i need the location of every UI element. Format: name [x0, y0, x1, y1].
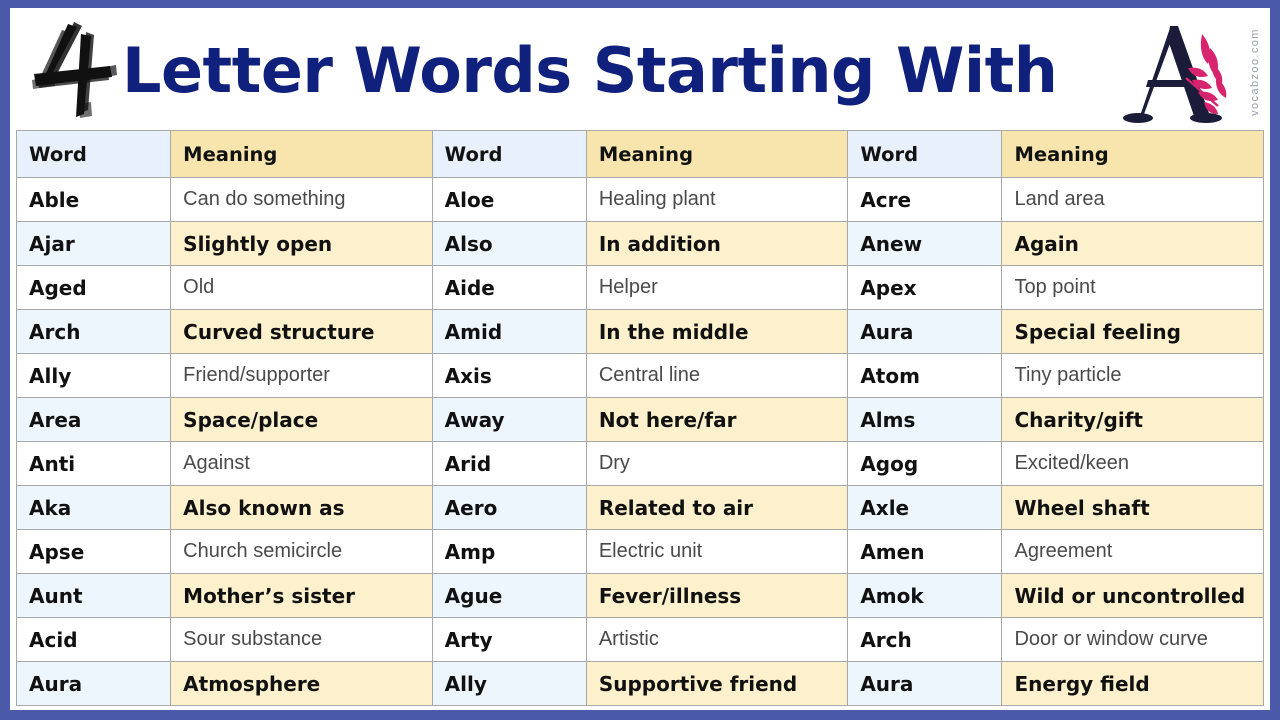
cell-word: Atom: [848, 354, 1002, 398]
cell-meaning: Supportive friend: [586, 662, 847, 706]
cell-meaning: Top point: [1002, 266, 1264, 310]
cell-meaning: Atmosphere: [171, 662, 432, 706]
cell-word: Aura: [17, 662, 171, 706]
cell-meaning: Central line: [586, 354, 847, 398]
cell-word: Amok: [848, 574, 1002, 618]
cell-word: Amen: [848, 530, 1002, 574]
cell-word: Aide: [432, 266, 586, 310]
table-row: AbleCan do somethingAloeHealing plantAcr…: [17, 178, 1264, 222]
cell-word: Arid: [432, 442, 586, 486]
cell-word: Anew: [848, 222, 1002, 266]
poster-frame: Letter Words Starting With: [0, 0, 1280, 720]
cell-word: Ajar: [17, 222, 171, 266]
cell-meaning: Old: [171, 266, 432, 310]
poster-header: Letter Words Starting With: [10, 8, 1270, 130]
cell-meaning: Against: [171, 442, 432, 486]
poster-sheet: Letter Words Starting With: [10, 8, 1270, 710]
table-header-row: Word Meaning Word Meaning Word Meaning: [17, 131, 1264, 178]
table-row: ArchCurved structureAmidIn the middleAur…: [17, 310, 1264, 354]
table-row: AuraAtmosphereAllySupportive friendAuraE…: [17, 662, 1264, 706]
cell-word: Arch: [17, 310, 171, 354]
cell-word: Acre: [848, 178, 1002, 222]
column-header-meaning-1: Meaning: [171, 131, 432, 178]
table-row: AllyFriend/supporterAxisCentral lineAtom…: [17, 354, 1264, 398]
table-row: AntiAgainstAridDryAgogExcited/keen: [17, 442, 1264, 486]
table-head: Word Meaning Word Meaning Word Meaning: [17, 131, 1264, 178]
table-row: AuntMother’s sisterAgueFever/illnessAmok…: [17, 574, 1264, 618]
cell-word: Aka: [17, 486, 171, 530]
cell-meaning: Sour substance: [171, 618, 432, 662]
cell-meaning: Mother’s sister: [171, 574, 432, 618]
table-row: AcidSour substanceArtyArtisticArchDoor o…: [17, 618, 1264, 662]
table-row: AjarSlightly openAlsoIn additionAnewAgai…: [17, 222, 1264, 266]
watermark-vocabzoo: vocabzoo.com: [1246, 22, 1264, 134]
cell-word: Amid: [432, 310, 586, 354]
column-header-meaning-3: Meaning: [1002, 131, 1264, 178]
cell-word: Arch: [848, 618, 1002, 662]
cell-word: Anti: [17, 442, 171, 486]
cell-meaning: Energy field: [1002, 662, 1264, 706]
cell-word: Agog: [848, 442, 1002, 486]
cell-meaning: Agreement: [1002, 530, 1264, 574]
cell-word: Amp: [432, 530, 586, 574]
cell-meaning: Also known as: [171, 486, 432, 530]
cell-word: Able: [17, 178, 171, 222]
cell-meaning: In the middle: [586, 310, 847, 354]
table-row: AgedOldAideHelperApexTop point: [17, 266, 1264, 310]
cell-meaning: Tiny particle: [1002, 354, 1264, 398]
cell-word: Aloe: [432, 178, 586, 222]
cell-word: Also: [432, 222, 586, 266]
cell-meaning: Not here/far: [586, 398, 847, 442]
page-title: Letter Words Starting With: [122, 40, 1057, 102]
cell-word: Axle: [848, 486, 1002, 530]
vocab-table: Word Meaning Word Meaning Word Meaning A…: [16, 130, 1264, 706]
cell-word: Apse: [17, 530, 171, 574]
cell-word: Aura: [848, 662, 1002, 706]
cell-meaning: Space/place: [171, 398, 432, 442]
cell-meaning: Excited/keen: [1002, 442, 1264, 486]
cell-meaning: In addition: [586, 222, 847, 266]
column-header-word-1: Word: [17, 131, 171, 178]
vocab-table-container: Word Meaning Word Meaning Word Meaning A…: [10, 130, 1270, 710]
cell-word: Axis: [432, 354, 586, 398]
cell-meaning: Artistic: [586, 618, 847, 662]
cell-meaning: Charity/gift: [1002, 398, 1264, 442]
cell-meaning: Helper: [586, 266, 847, 310]
cell-word: Area: [17, 398, 171, 442]
cell-word: Apex: [848, 266, 1002, 310]
cell-meaning: Dry: [586, 442, 847, 486]
cell-meaning: Healing plant: [586, 178, 847, 222]
cell-word: Away: [432, 398, 586, 442]
cell-word: Arty: [432, 618, 586, 662]
table-body: AbleCan do somethingAloeHealing plantAcr…: [17, 178, 1264, 706]
cell-meaning: Can do something: [171, 178, 432, 222]
cell-word: Ague: [432, 574, 586, 618]
cell-meaning: Again: [1002, 222, 1264, 266]
cell-meaning: Slightly open: [171, 222, 432, 266]
cell-word: Acid: [17, 618, 171, 662]
logo-letter-a-icon: [1122, 22, 1234, 126]
column-header-word-2: Word: [432, 131, 586, 178]
cell-word: Aura: [848, 310, 1002, 354]
cell-meaning: Related to air: [586, 486, 847, 530]
cell-meaning: Land area: [1002, 178, 1264, 222]
cell-meaning: Wheel shaft: [1002, 486, 1264, 530]
cell-word: Ally: [17, 354, 171, 398]
cell-word: Ally: [432, 662, 586, 706]
cell-word: Alms: [848, 398, 1002, 442]
cell-meaning: Special feeling: [1002, 310, 1264, 354]
table-row: AkaAlso known asAeroRelated to airAxleWh…: [17, 486, 1264, 530]
cell-meaning: Door or window curve: [1002, 618, 1264, 662]
table-row: AreaSpace/placeAwayNot here/farAlmsChari…: [17, 398, 1264, 442]
cell-meaning: Electric unit: [586, 530, 847, 574]
cell-meaning: Friend/supporter: [171, 354, 432, 398]
cell-meaning: Church semicircle: [171, 530, 432, 574]
cell-word: Aero: [432, 486, 586, 530]
watermark-text: vocabzoo.com: [1249, 28, 1261, 116]
cell-word: Aged: [17, 266, 171, 310]
table-row: ApseChurch semicircleAmpElectric unitAme…: [17, 530, 1264, 574]
cell-meaning: Fever/illness: [586, 574, 847, 618]
cell-word: Aunt: [17, 574, 171, 618]
brush-four-icon: [24, 18, 120, 122]
column-header-meaning-2: Meaning: [586, 131, 847, 178]
column-header-word-3: Word: [848, 131, 1002, 178]
cell-meaning: Wild or uncontrolled: [1002, 574, 1264, 618]
cell-meaning: Curved structure: [171, 310, 432, 354]
